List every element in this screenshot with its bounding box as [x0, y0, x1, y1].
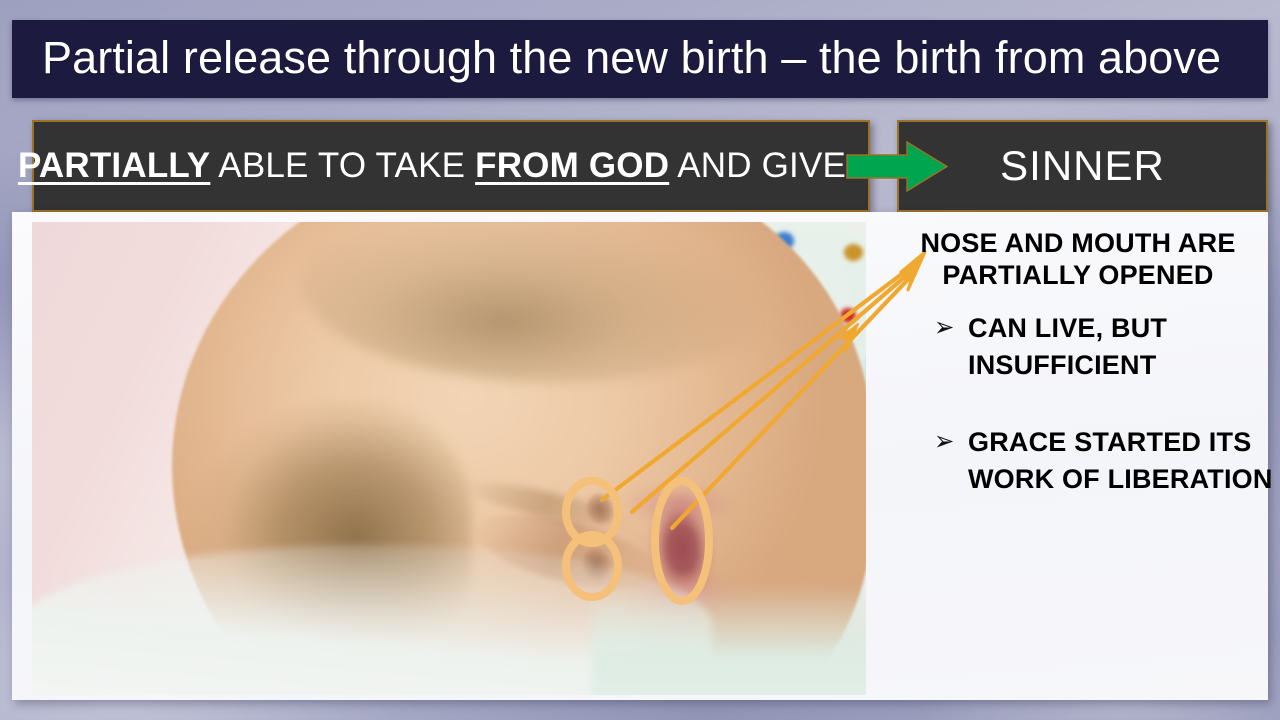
- statement-emphasis: PARTIALLY: [18, 146, 210, 185]
- right-arrow-icon: [845, 139, 949, 194]
- title-bar: Partial release through the new birth – …: [12, 20, 1268, 98]
- list-item: ➢ GRACE STARTED ITS WORK OF LIBERATION: [934, 424, 1274, 499]
- baby-photo: [32, 222, 866, 695]
- statement-text: PARTIALLY ABLE TO TAKE FROM GOD AND GIVE: [18, 146, 884, 186]
- list-item: ➢ CAN LIVE, BUT INSUFFICIENT: [934, 310, 1274, 385]
- arrow-bullet-icon: ➢: [934, 310, 968, 345]
- sinner-label: SINNER: [1000, 142, 1165, 190]
- page-title: Partial release through the new birth – …: [42, 32, 1221, 84]
- slide-canvas: Partial release through the new birth – …: [0, 0, 1280, 720]
- right-text-panel: NOSE AND MOUTH ARE PARTIALLY OPENED ➢ CA…: [884, 212, 1268, 700]
- arrow-bullet-icon: ➢: [934, 424, 968, 459]
- statement-plain: ABLE TO TAKE: [210, 146, 475, 185]
- panel-heading: NOSE AND MOUTH ARE PARTIALLY OPENED: [896, 228, 1260, 292]
- statement-box: PARTIALLY ABLE TO TAKE FROM GOD AND GIVE: [32, 120, 870, 212]
- list-item-label: GRACE STARTED ITS WORK OF LIBERATION: [968, 424, 1274, 499]
- statement-emphasis: FROM GOD: [475, 146, 669, 185]
- statement-plain: AND GIVE: [669, 146, 846, 185]
- list-item-label: CAN LIVE, BUT INSUFFICIENT: [968, 310, 1274, 385]
- sinner-box: SINNER: [897, 120, 1268, 212]
- content-panel: NOSE AND MOUTH ARE PARTIALLY OPENED ➢ CA…: [12, 212, 1268, 700]
